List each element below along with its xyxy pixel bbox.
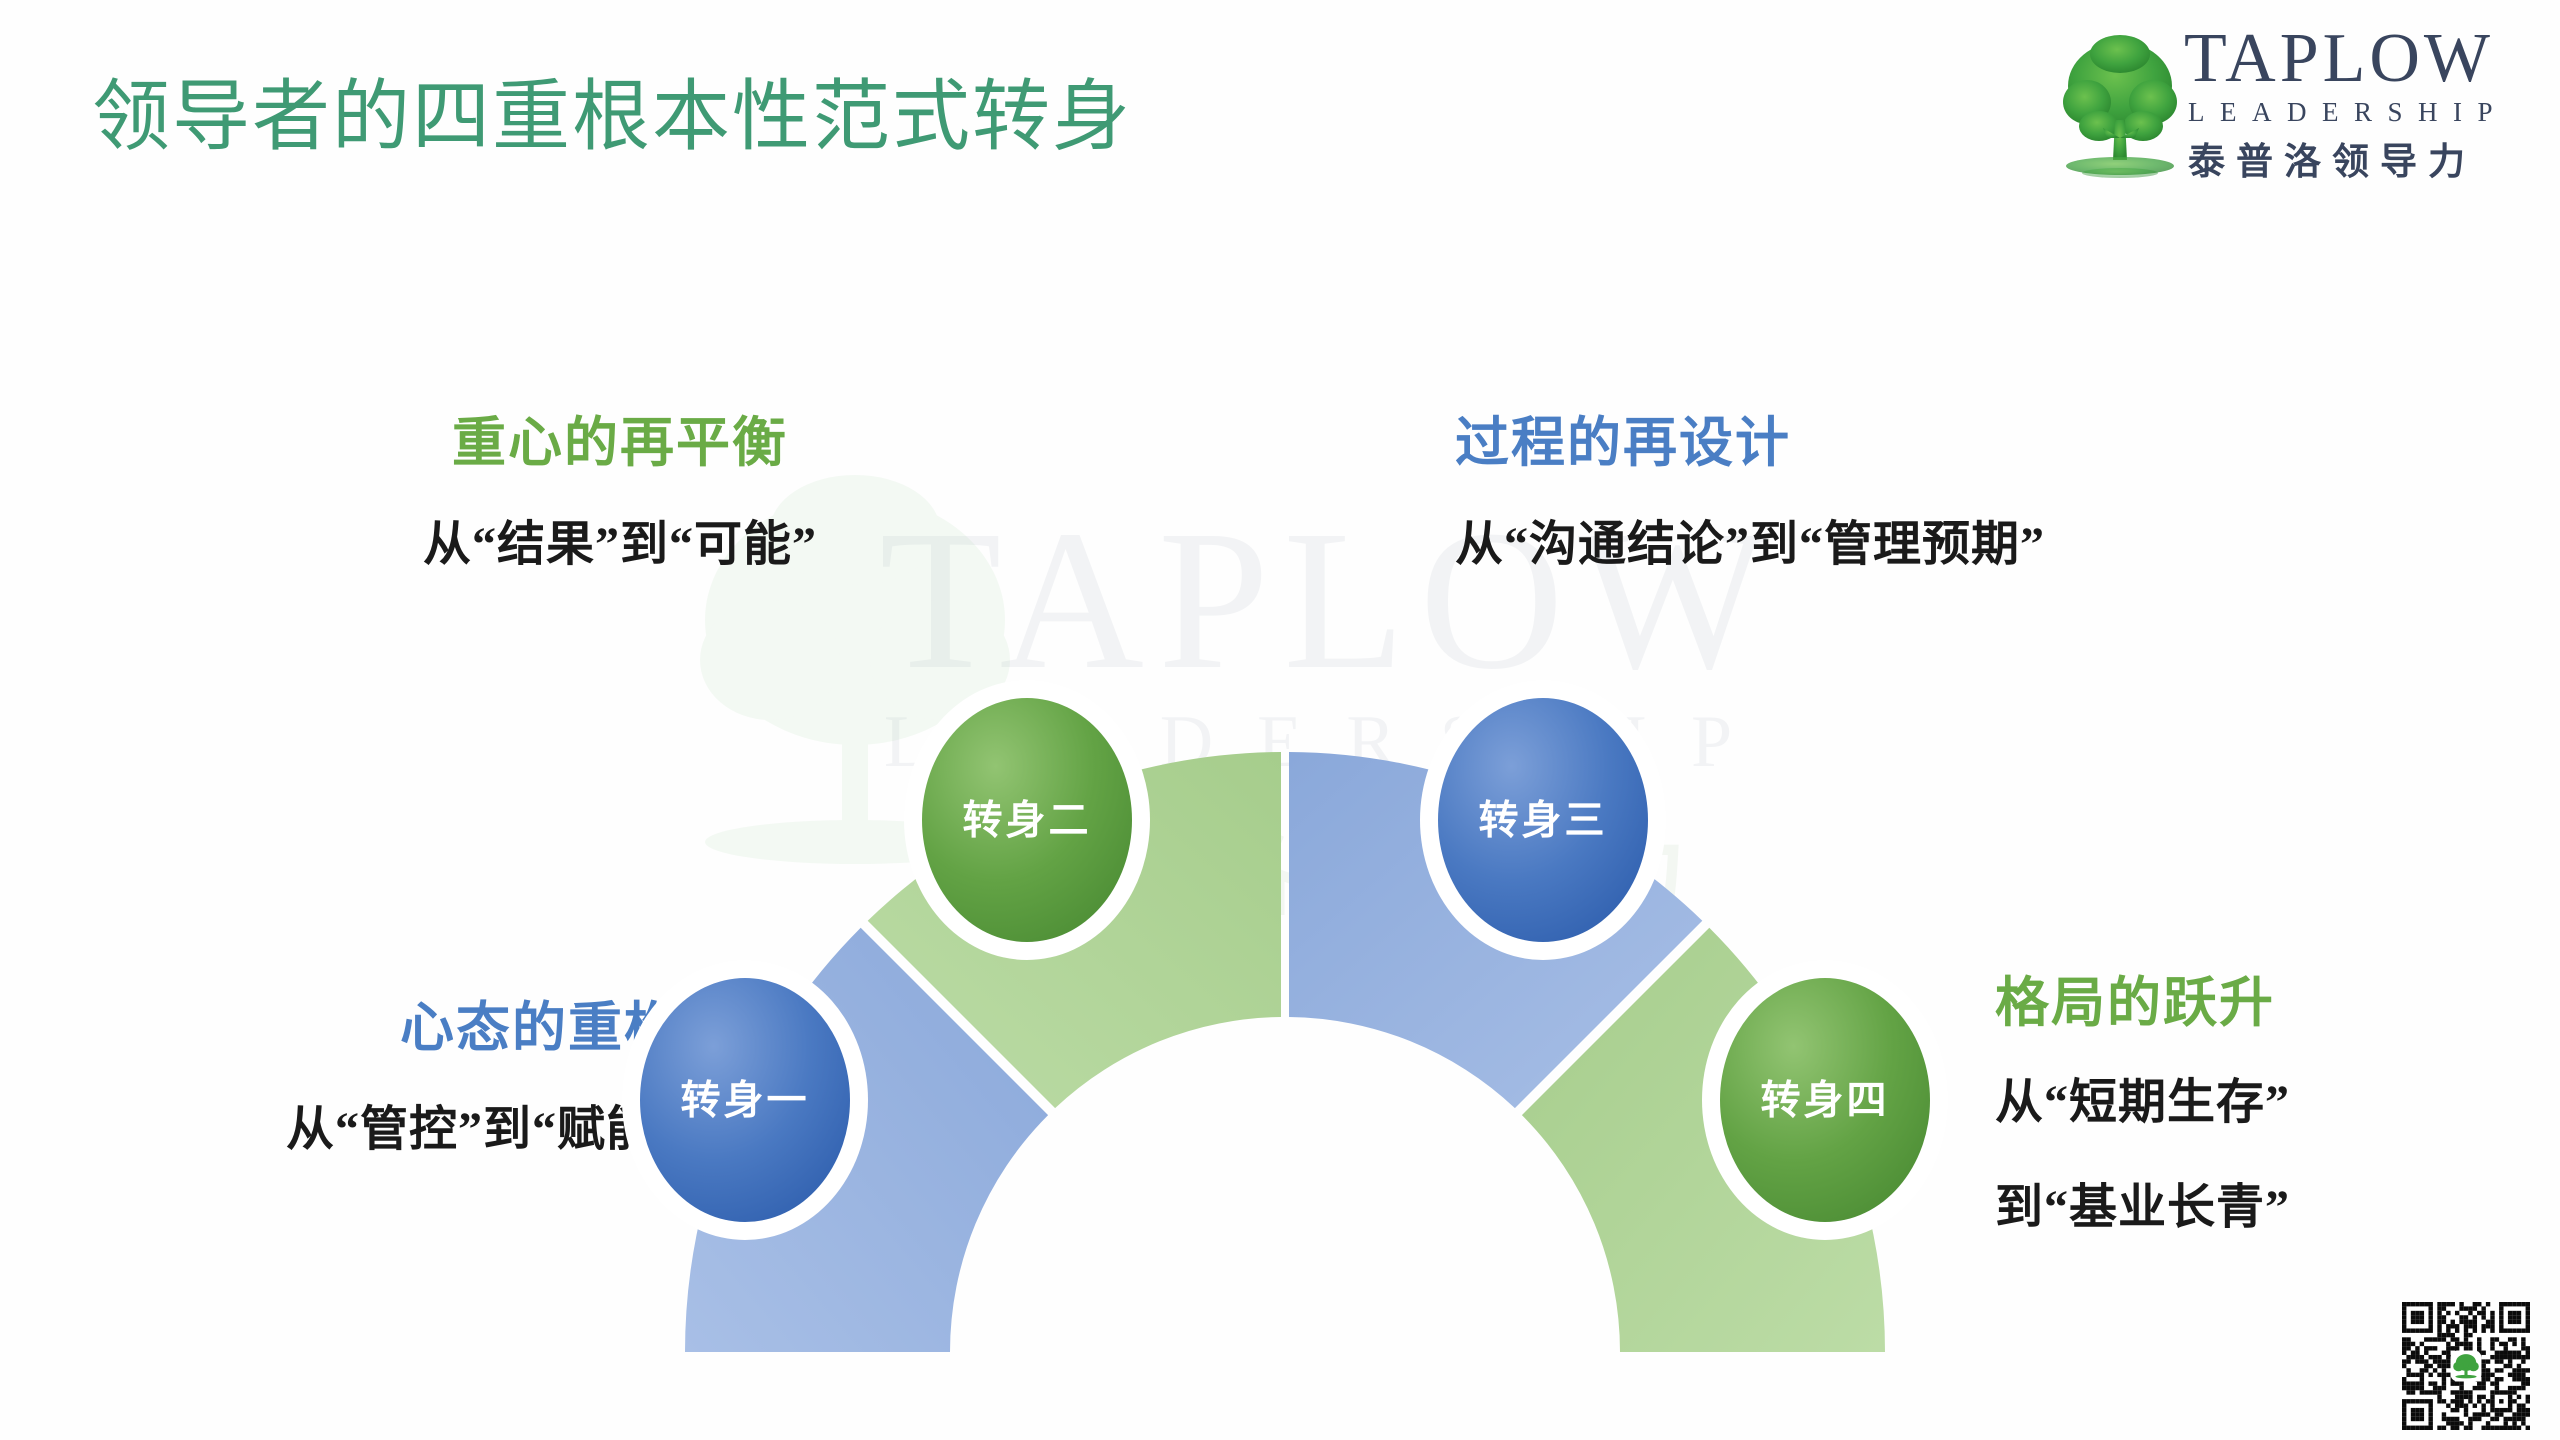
slide-canvas: TAPLOW LEADERSHIP 泰普洛领导力 领导者的四重根本性范式转身 bbox=[0, 0, 2560, 1440]
tree-icon bbox=[2063, 34, 2178, 184]
label-bottom-right: 格局的跃升 从“短期生存” 到“基业长青” bbox=[1995, 975, 2515, 1243]
node-3-label: 转身三 bbox=[1479, 798, 1608, 843]
node-1-label: 转身一 bbox=[681, 1078, 810, 1123]
node-2[interactable]: 转身二 bbox=[904, 680, 1150, 960]
label-top-left: 重心的再平衡 从“结果”到“可能” bbox=[300, 415, 940, 579]
arch-band bbox=[685, 752, 1885, 1352]
label-line-1: 从“结果”到“可能” bbox=[300, 510, 940, 580]
node-4-label: 转身四 bbox=[1761, 1078, 1890, 1123]
label-bottom-left: 心态的重构 从“管控”到“赋能” bbox=[40, 1000, 680, 1164]
label-line-1: 从“管控”到“赋能” bbox=[40, 1095, 680, 1165]
label-heading: 重心的再平衡 bbox=[300, 415, 940, 472]
page-title: 领导者的四重根本性范式转身 bbox=[92, 78, 1132, 156]
node-2-label: 转身二 bbox=[963, 798, 1092, 843]
arch-diagram: 转身一 转身二 转身三 转身四 bbox=[620, 640, 1950, 1380]
label-heading: 心态的重构 bbox=[40, 1000, 680, 1057]
label-heading: 过程的再设计 bbox=[1455, 415, 2295, 472]
label-line-1: 从“沟通结论”到“管理预期” bbox=[1455, 510, 2295, 580]
label-top-right: 过程的再设计 从“沟通结论”到“管理预期” bbox=[1455, 415, 2295, 579]
logo-chinese: 泰普洛领导力 bbox=[2184, 131, 2508, 185]
label-heading: 格局的跃升 bbox=[1995, 975, 2515, 1032]
node-3[interactable]: 转身三 bbox=[1420, 680, 1666, 960]
label-line-1: 从“短期生存” bbox=[1995, 1068, 2515, 1138]
logo-tagline: LEADERSHIP bbox=[2184, 97, 2508, 128]
node-4[interactable]: 转身四 bbox=[1702, 960, 1948, 1240]
logo-wordmark: TAPLOW bbox=[2184, 26, 2508, 93]
brand-logo: TAPLOW LEADERSHIP 泰普洛领导力 bbox=[2063, 26, 2508, 185]
node-1[interactable]: 转身一 bbox=[622, 960, 868, 1240]
qr-code[interactable] bbox=[2402, 1302, 2530, 1430]
logo-text-block: TAPLOW LEADERSHIP 泰普洛领导力 bbox=[2184, 26, 2508, 185]
label-line-2: 到“基业长青” bbox=[1995, 1173, 2515, 1243]
